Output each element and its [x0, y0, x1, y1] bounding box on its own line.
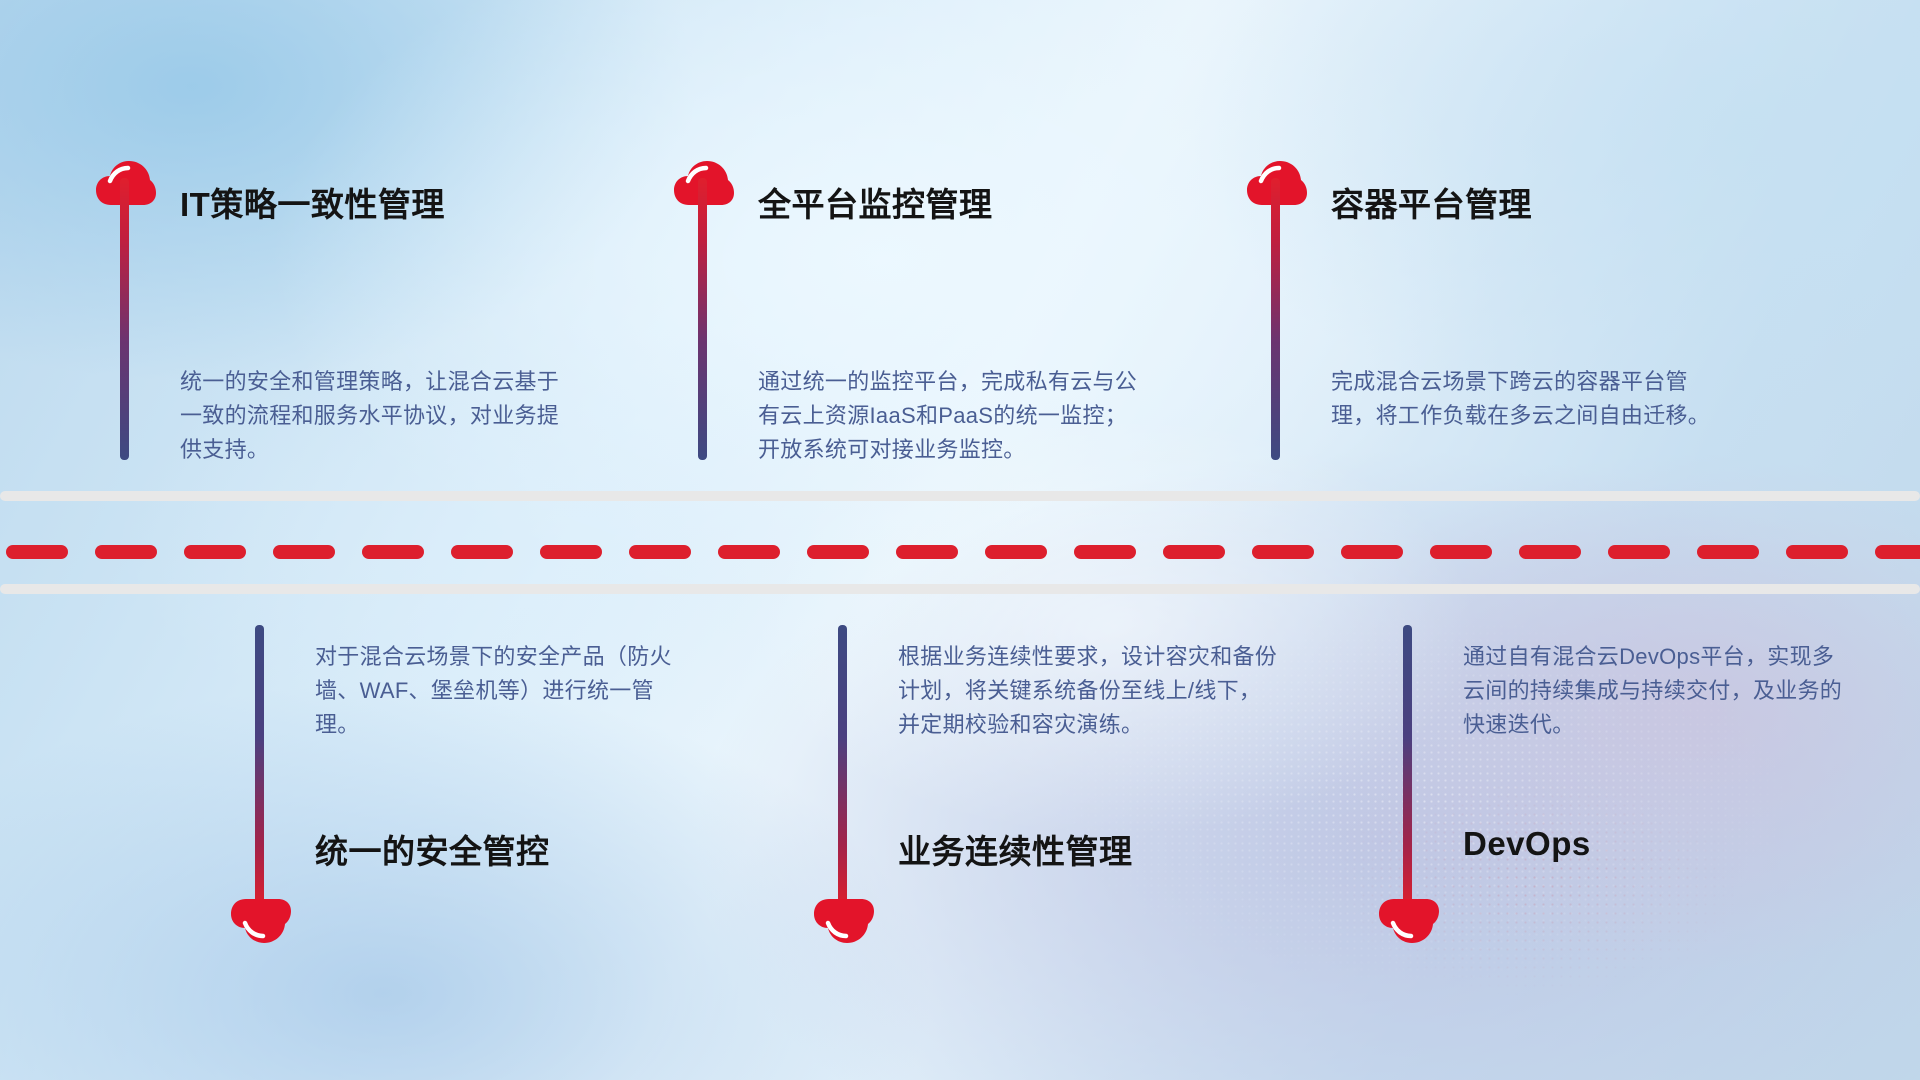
connector-stem — [1271, 178, 1280, 460]
column-body-text: 统一的安全和管理策略，让混合云基于一致的流程和服务水平协议，对业务提供支持。 — [180, 365, 560, 467]
dash-segment — [896, 545, 958, 559]
dash-segment — [451, 545, 513, 559]
dash-segment — [540, 545, 602, 559]
dash-segment — [1786, 545, 1848, 559]
dash-segment — [95, 545, 157, 559]
dash-segment — [1875, 545, 1920, 559]
column-body-text: 通过自有混合云DevOps平台，实现多云间的持续集成与持续交付，及业务的快速迭代… — [1463, 640, 1843, 742]
dash-segment — [6, 545, 68, 559]
column-body-text: 根据业务连续性要求，设计容灾和备份计划，将关键系统备份至线上/线下，并定期校验和… — [898, 640, 1278, 742]
dash-segment — [1519, 545, 1581, 559]
connector-stem — [255, 625, 264, 907]
column-body-text: 对于混合云场景下的安全产品（防火墙、WAF、堡垒机等）进行统一管理。 — [315, 640, 695, 742]
column-heading: 统一的安全管控 — [315, 825, 550, 873]
dash-segment — [1163, 545, 1225, 559]
dash-segment — [362, 545, 424, 559]
connector-stem — [698, 178, 707, 460]
column-heading: DevOps — [1463, 825, 1591, 863]
infographic-canvas: IT策略一致性管理 统一的安全和管理策略，让混合云基于一致的流程和服务水平协议，… — [0, 0, 1920, 1080]
dash-segment — [1697, 545, 1759, 559]
connector-stem — [838, 625, 847, 907]
column-heading: 容器平台管理 — [1331, 178, 1532, 226]
dash-segment — [1341, 545, 1403, 559]
dash-segment — [718, 545, 780, 559]
column-heading: 业务连续性管理 — [898, 825, 1133, 873]
connector-stem — [120, 178, 129, 460]
column-heading: IT策略一致性管理 — [180, 178, 445, 226]
column-body-text: 通过统一的监控平台，完成私有云与公有云上资源IaaS和PaaS的统一监控；开放系… — [758, 365, 1138, 467]
cloud-icon — [230, 898, 292, 944]
dash-segment — [807, 545, 869, 559]
dash-segment — [629, 545, 691, 559]
cloud-icon — [813, 898, 875, 944]
dash-segment — [1608, 545, 1670, 559]
column-heading: 全平台监控管理 — [758, 178, 993, 226]
dash-segment — [1074, 545, 1136, 559]
dash-segment — [1430, 545, 1492, 559]
connector-stem — [1403, 625, 1412, 907]
divider-rule-lower — [0, 584, 1920, 594]
dash-segment — [985, 545, 1047, 559]
column-body-text: 完成混合云场景下跨云的容器平台管理，将工作负载在多云之间自由迁移。 — [1331, 365, 1711, 433]
dash-segment — [273, 545, 335, 559]
dash-segment — [184, 545, 246, 559]
divider-dashed-line — [0, 545, 1920, 559]
cloud-icon — [1378, 898, 1440, 944]
divider-rule-upper — [0, 491, 1920, 501]
dash-segment — [1252, 545, 1314, 559]
